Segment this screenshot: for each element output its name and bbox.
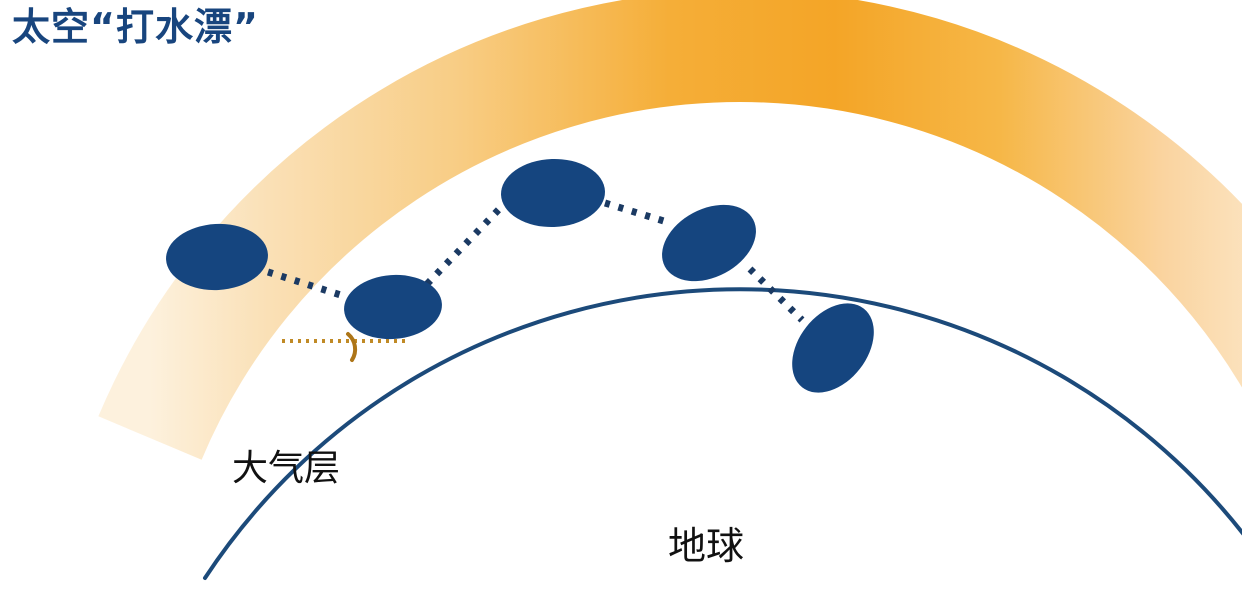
entry-angle-arc (348, 334, 355, 360)
diagram-canvas: 太空“打水漂” (0, 0, 1242, 607)
skip-reentry-illustration: 大气层 地球 (0, 0, 1242, 607)
atmosphere-label: 大气层 (232, 448, 340, 489)
capsule-3 (500, 157, 606, 229)
earth-label: 地球 (668, 524, 744, 568)
trajectory-segment-2 (427, 203, 505, 284)
trajectory-segment-3 (605, 203, 667, 222)
capsule-4 (649, 190, 769, 297)
capsule-5 (775, 288, 890, 409)
trajectory-segment-4 (750, 269, 802, 320)
